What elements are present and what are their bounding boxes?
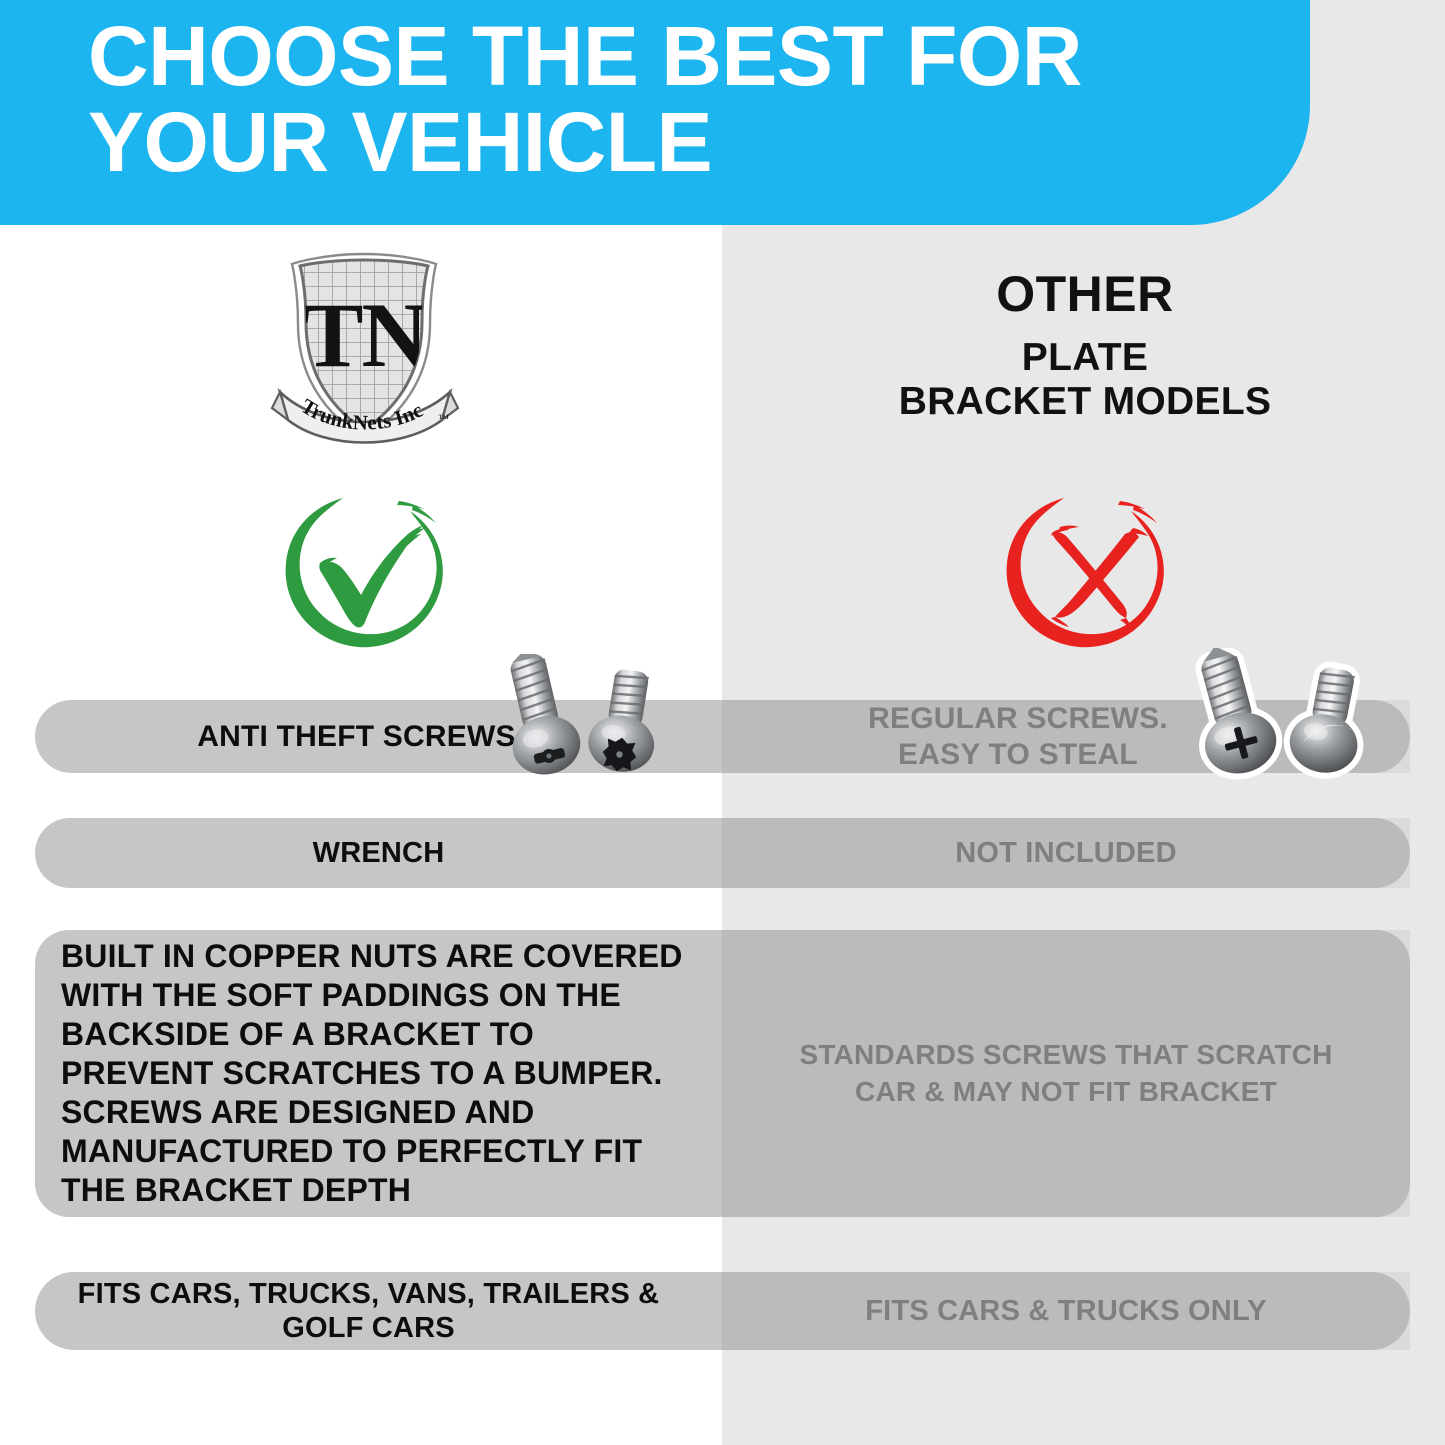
other-subtitle: PLATE BRACKET MODELS (760, 336, 1410, 423)
row-screws-right-line-1: REGULAR SCREWS. (868, 702, 1168, 735)
row-fits-right-label: FITS CARS & TRUCKS ONLY (865, 1294, 1267, 1328)
other-subtitle-line-1: PLATE (760, 336, 1410, 380)
row-wrench-right-cell: NOT INCLUDED (722, 818, 1410, 888)
header-title-line-2: YOUR VEHICLE (88, 100, 1268, 186)
other-subtitle-line-2: BRACKET MODELS (760, 380, 1410, 424)
svg-text:™: ™ (438, 413, 449, 425)
infographic-page: CHOOSE THE BEST FOR YOUR VEHICLE TN (0, 0, 1445, 1445)
row-nuts-right-label: STANDARDS SCREWS THAT SCRATCH CAR & MAY … (799, 1037, 1332, 1110)
regular-phillips-screws-image (1176, 648, 1388, 800)
comparison-row-fitment: FITS CARS, TRUCKS, VANS, TRAILERS & GOLF… (35, 1272, 1410, 1350)
header-banner: CHOOSE THE BEST FOR YOUR VEHICLE (0, 0, 1310, 225)
row-nuts-left-label: BUILT IN COPPER NUTS ARE COVERED WITH TH… (61, 937, 694, 1210)
header-title-line-1: CHOOSE THE BEST FOR (88, 14, 1268, 100)
row-screws-right-label: REGULAR SCREWS. EASY TO STEAL (868, 701, 1168, 772)
svg-text:TN: TN (302, 284, 427, 386)
row-nuts-right-cell: STANDARDS SCREWS THAT SCRATCH CAR & MAY … (722, 930, 1410, 1217)
comparison-row-wrench: WRENCH NOT INCLUDED (35, 818, 1410, 888)
red-cross-circle-icon (1000, 489, 1178, 659)
row-wrench-left-label: WRENCH (313, 836, 445, 870)
row-wrench-right-label: NOT INCLUDED (955, 836, 1177, 870)
other-title: OTHER (760, 268, 1410, 320)
header-title: CHOOSE THE BEST FOR YOUR VEHICLE (88, 14, 1268, 185)
row-fits-right-cell: FITS CARS & TRUCKS ONLY (722, 1272, 1410, 1350)
row-nuts-left-cell: BUILT IN COPPER NUTS ARE COVERED WITH TH… (35, 930, 722, 1217)
row-nuts-right-line-2: CAR & MAY NOT FIT BRACKET (855, 1076, 1277, 1107)
row-screws-right-line-2: EASY TO STEAL (898, 738, 1138, 771)
other-column-heading: OTHER PLATE BRACKET MODELS (760, 268, 1410, 423)
row-fits-left-label: FITS CARS, TRUCKS, VANS, TRAILERS & GOLF… (78, 1277, 660, 1345)
security-torx-screws-image (479, 654, 684, 794)
row-fits-left-cell: FITS CARS, TRUCKS, VANS, TRAILERS & GOLF… (35, 1272, 722, 1350)
green-check-circle-icon (279, 489, 457, 659)
row-fits-left-line-2: GOLF CARS (282, 1312, 455, 1344)
row-fits-left-line-1: FITS CARS, TRUCKS, VANS, TRAILERS & (78, 1278, 660, 1310)
row-screws-left-label: ANTI THEFT SCREWS (197, 719, 515, 754)
row-nuts-right-line-1: STANDARDS SCREWS THAT SCRATCH (799, 1039, 1332, 1070)
row-wrench-left-cell: WRENCH (35, 818, 722, 888)
comparison-row-copper-nuts: BUILT IN COPPER NUTS ARE COVERED WITH TH… (35, 930, 1410, 1217)
trunknets-logo: TN TrunkNets Inc ™ (262, 244, 467, 449)
